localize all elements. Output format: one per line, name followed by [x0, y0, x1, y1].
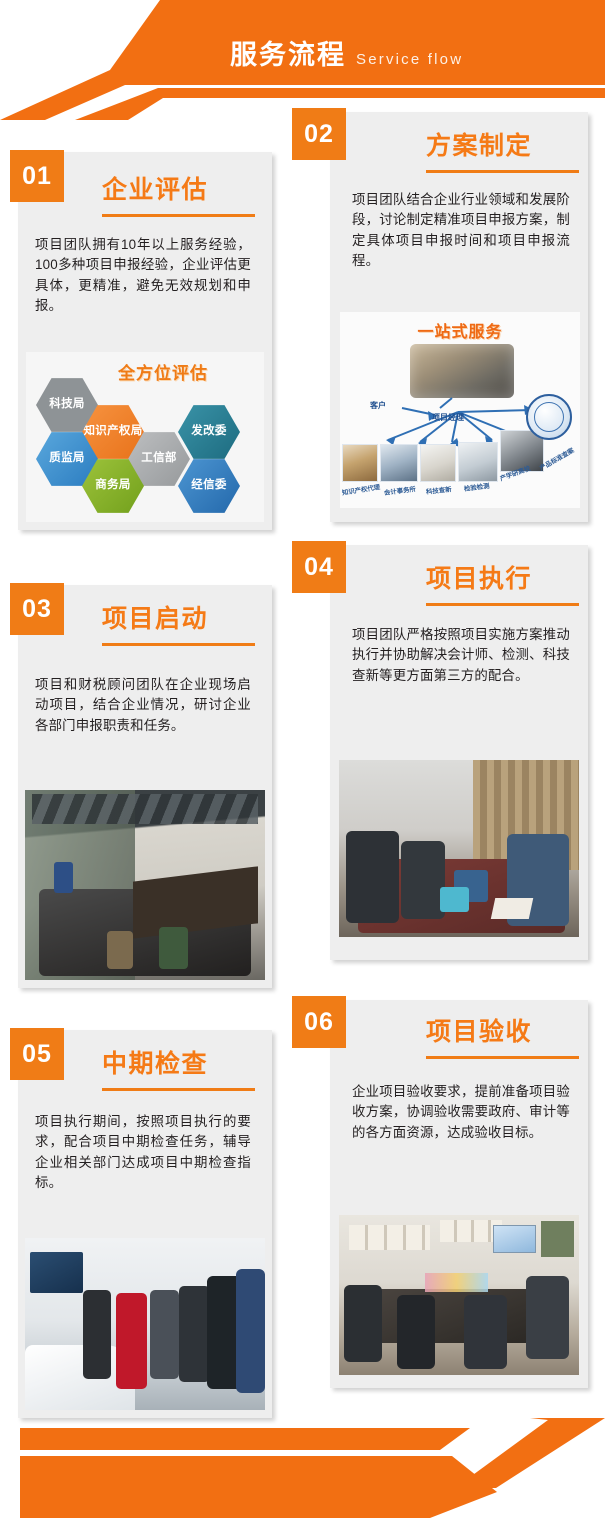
page-subtitle: Service flow — [356, 52, 463, 67]
card-04-photo — [339, 760, 579, 937]
card-05-photo — [25, 1238, 265, 1410]
card-04-title: 项目执行 — [426, 567, 532, 592]
card-01[interactable]: 企业评估 项目团队拥有10年以上服务经验，100多种项目申报经验，企业评估更具体… — [18, 152, 272, 530]
card-03-title-rule — [102, 643, 255, 646]
card-04-badge: 04 — [292, 541, 346, 593]
card-03-photo — [25, 790, 265, 980]
one-stop-node-manager: 项目经理 — [432, 412, 464, 423]
footer-chevron-band — [0, 1418, 605, 1538]
one-stop-thumb-4 — [458, 442, 498, 482]
hex-diagram: 全方位评估 科技局 知识产权局 质监局 工信部 商务局 发改委 经信委 — [26, 352, 264, 522]
card-01-title-rule — [102, 214, 255, 217]
card-02-title: 方案制定 — [426, 134, 532, 159]
card-02[interactable]: 方案制定 项目团队结合企业行业领域和发展阶段，讨论制定精准项目申报方案，制定具体… — [330, 112, 588, 522]
card-03-body: 项目和财税顾问团队在企业现场启动项目，结合企业情况，研讨企业各部门申报职责和任务… — [35, 675, 251, 736]
one-stop-thumb-3 — [420, 444, 456, 482]
card-06-body: 企业项目验收要求，提前准备项目验收方案，协调验收需要政府、审计等的各方面资源，达… — [352, 1082, 570, 1143]
hex-node-jingxin: 经信委 — [178, 458, 240, 514]
card-05-title: 中期检查 — [102, 1052, 208, 1077]
card-06-photo — [339, 1215, 579, 1375]
card-04-body: 项目团队严格按照项目实施方案推动执行并协助解决会计师、检测、科技查新等更方面第三… — [352, 625, 570, 686]
card-06-title: 项目验收 — [426, 1020, 532, 1045]
one-stop-node-customer: 客户 — [370, 400, 386, 411]
header-title-group: 服务流程 Service flow — [230, 42, 463, 69]
card-01-title: 企业评估 — [102, 178, 208, 203]
card-02-title-rule — [426, 170, 579, 173]
hex-diagram-title: 全方位评估 — [118, 359, 208, 384]
card-02-body: 项目团队结合企业行业领域和发展阶段，讨论制定精准项目申报方案，制定具体项目申报时… — [352, 190, 570, 272]
one-stop-seal-icon — [526, 394, 572, 440]
card-01-body: 项目团队拥有10年以上服务经验，100多种项目申报经验，企业评估更具体，更精准，… — [35, 235, 251, 317]
card-04[interactable]: 项目执行 项目团队严格按照项目实施方案推动执行并协助解决会计师、检测、科技查新等… — [330, 545, 588, 960]
card-01-badge: 01 — [10, 150, 64, 202]
card-05-title-rule — [102, 1088, 255, 1091]
page-header: 服务流程 Service flow — [0, 0, 605, 120]
one-stop-thumb-1 — [342, 444, 378, 482]
service-flow-infographic: 服务流程 Service flow 企业评估 项目团队拥有10年以上服务经验，1… — [0, 0, 605, 1538]
one-stop-thumb-2 — [380, 444, 418, 482]
card-06-badge: 06 — [292, 996, 346, 1048]
card-03-badge: 03 — [10, 583, 64, 635]
card-02-badge: 02 — [292, 108, 346, 160]
card-03[interactable]: 项目启动 项目和财税顾问团队在企业现场启动项目，结合企业情况，研讨企业各部门申报… — [18, 585, 272, 988]
card-05-badge: 05 — [10, 1028, 64, 1080]
card-04-title-rule — [426, 603, 579, 606]
hex-node-fagai: 发改委 — [178, 404, 240, 460]
card-05[interactable]: 中期检查 项目执行期间，按照项目执行的要求，配合项目中期检查任务，辅导企业相关部… — [18, 1030, 272, 1418]
page-footer: 全国统一热线： 400-150-1560 — [0, 1418, 605, 1538]
card-05-body: 项目执行期间，按照项目执行的要求，配合项目中期检查任务，辅导企业相关部门达成项目… — [35, 1112, 251, 1194]
page-title: 服务流程 — [230, 42, 346, 69]
card-03-title: 项目启动 — [102, 607, 208, 632]
card-06-title-rule — [426, 1056, 579, 1059]
card-06[interactable]: 项目验收 企业项目验收要求，提前准备项目验收方案，协调验收需要政府、审计等的各方… — [330, 1000, 588, 1388]
one-stop-diagram: 一站式服务 客户 项 — [340, 312, 580, 508]
